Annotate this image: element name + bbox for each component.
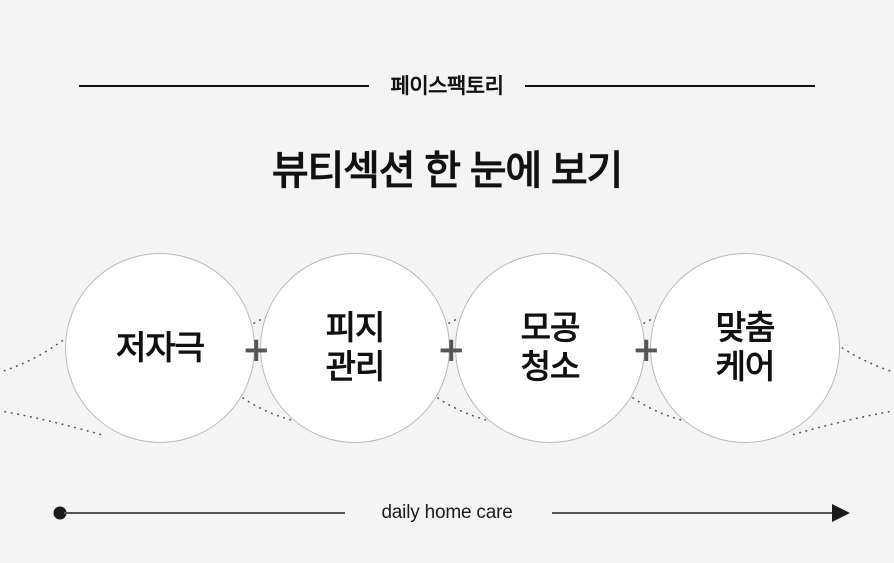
circle-item-4[interactable]: 맞춤 케어 (650, 253, 840, 443)
page-title: 뷰티섹션 한 눈에 보기 (0, 148, 894, 194)
circle-item-3[interactable]: 모공 청소 (455, 253, 645, 443)
circle-item-1[interactable]: 저자극 (65, 253, 255, 443)
plus-connector-1: + (242, 338, 268, 364)
brand-rule-right (525, 85, 815, 87)
circle-label-3: 모공 청소 (521, 309, 580, 387)
circle-label-2: 피지 관리 (326, 309, 385, 387)
circle-item-2[interactable]: 피지 관리 (260, 253, 450, 443)
brand-rule-left (79, 85, 369, 87)
footer-arrow-band: daily home care (0, 490, 894, 536)
page-root: 페이스팩토리 뷰티섹션 한 눈에 보기 (0, 0, 894, 563)
circle-label-4: 맞춤 케어 (716, 309, 775, 387)
circle-diagram: 저자극 + 피지 관리 + 모공 청소 + 맞춤 케어 (0, 230, 894, 470)
plus-connector-2: + (437, 338, 463, 364)
plus-connector-3: + (632, 338, 658, 364)
brand-header: 페이스팩토리 (0, 66, 894, 106)
brand-name: 페이스팩토리 (391, 76, 504, 97)
circle-label-1: 저자극 (116, 329, 204, 368)
footer-caption: daily home care (0, 490, 894, 536)
